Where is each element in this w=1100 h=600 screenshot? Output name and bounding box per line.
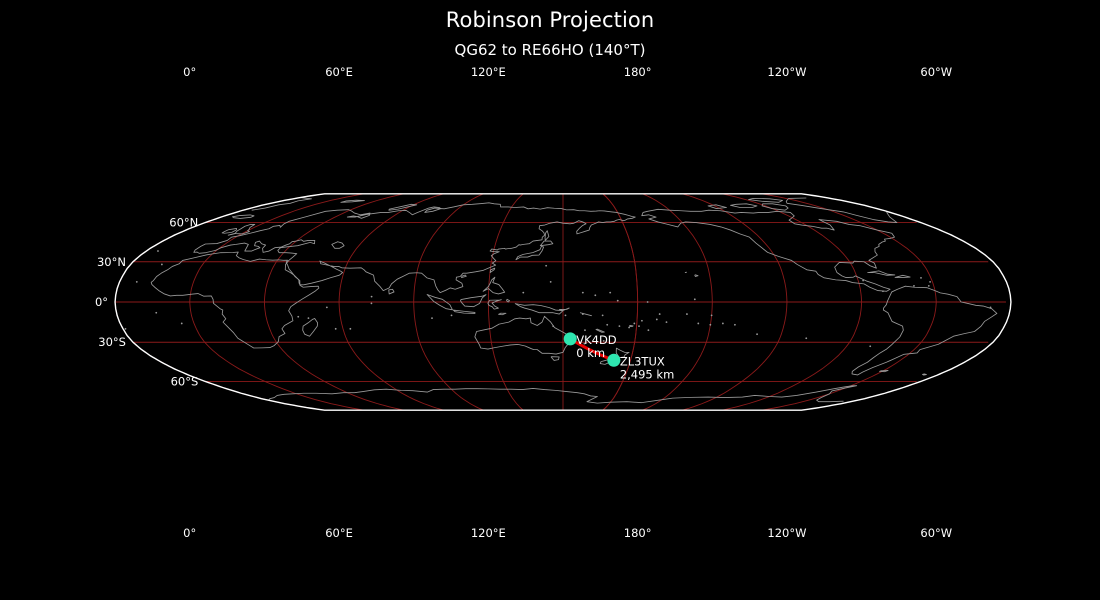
marker-distance-destination: 2,495 km: [620, 367, 674, 381]
island-dot: [697, 323, 699, 325]
island-dot: [641, 320, 643, 322]
island-dot: [666, 321, 668, 323]
coastline-segment: [222, 228, 236, 233]
island-dot: [862, 280, 864, 282]
island-dot: [136, 281, 138, 283]
island-dot: [882, 290, 884, 292]
coastline-segment: [895, 275, 910, 277]
bottom-tick-5: 60°W: [920, 526, 952, 540]
marker-destination[interactable]: [607, 354, 620, 367]
left-tick-2: 0°: [95, 295, 108, 309]
left-tick-4: 60°S: [171, 374, 199, 388]
island-dot: [647, 329, 649, 331]
bottom-tick-2: 120°E: [471, 526, 506, 540]
island-dot: [552, 325, 554, 327]
coastline-segment: [630, 325, 633, 326]
island-dot: [371, 296, 373, 298]
coastline-segment: [559, 308, 569, 310]
coastline-segment: [868, 271, 895, 275]
coastline-segment: [341, 200, 365, 202]
island-dot: [659, 313, 661, 315]
coastline-segment: [852, 286, 997, 375]
island-dot: [990, 306, 992, 308]
coastline-segment: [762, 204, 788, 210]
coastline-segment: [515, 304, 563, 314]
page-subtitle: QG62 to RE66HO (140°T): [0, 41, 1100, 59]
marker-distance-origin: 0 km: [576, 346, 605, 360]
marker-callsign-origin: VK4DD: [576, 333, 617, 347]
coastline-segment: [695, 275, 698, 277]
island-dot: [161, 264, 163, 266]
island-dot: [602, 315, 604, 317]
graticule-layer: [115, 194, 1006, 410]
page-title: Robinson Projection: [0, 8, 1100, 32]
world-map[interactable]: VK4DD0 kmZL3TUX2,495 km 0°0°60°E60°E120°…: [0, 0, 1100, 600]
island-dot: [125, 328, 127, 330]
coastline-segment: [332, 242, 344, 249]
island-dot: [929, 281, 931, 283]
island-dot: [686, 313, 688, 315]
coastline-segment: [551, 357, 559, 361]
marker-origin[interactable]: [564, 332, 577, 345]
island-dot: [349, 328, 351, 330]
island-dot: [594, 294, 596, 296]
island-dot: [522, 292, 524, 294]
coastline-segment: [151, 252, 319, 348]
island-dot: [582, 292, 584, 294]
coastline-segment: [499, 313, 506, 315]
island-dot: [756, 333, 758, 335]
map-figure: Robinson Projection QG62 to RE66HO (140°…: [0, 0, 1100, 600]
top-tick-4: 120°W: [767, 65, 806, 79]
coastline-segment: [483, 277, 505, 294]
island-dot: [920, 277, 922, 279]
island-dot: [709, 324, 711, 326]
island-dot: [722, 323, 724, 325]
coastline-segment: [453, 310, 475, 313]
island-dot: [308, 317, 310, 319]
island-dot: [609, 292, 611, 294]
island-dot: [606, 324, 608, 326]
island-dot: [656, 319, 658, 321]
top-tick-5: 60°W: [920, 65, 952, 79]
coastline-segment: [389, 289, 394, 294]
coastline-segment: [228, 224, 255, 235]
island-dot: [711, 315, 713, 317]
island-dot: [734, 324, 736, 326]
island-dot: [545, 265, 547, 267]
bottom-tick-4: 120°W: [767, 526, 806, 540]
coastline-segment: [731, 204, 757, 208]
coastline-segment: [488, 300, 501, 309]
coastline-segment: [642, 209, 895, 291]
bottom-tick-1: 60°E: [325, 526, 353, 540]
island-dot: [451, 315, 453, 317]
island-dot: [805, 337, 807, 339]
coastline-segment: [611, 386, 857, 403]
coastline-segment: [545, 231, 549, 241]
island-dot: [584, 329, 586, 331]
island-dot: [619, 325, 621, 327]
top-tick-0: 0°: [183, 65, 196, 79]
island-dot: [913, 285, 915, 287]
marker-layer[interactable]: VK4DD0 kmZL3TUX2,495 km: [564, 332, 675, 381]
top-tick-3: 180°: [624, 65, 652, 79]
island-dot: [550, 281, 552, 283]
coastline-segment: [232, 215, 254, 219]
left-tick-0: 60°N: [169, 216, 198, 230]
island-dot: [617, 300, 619, 302]
coastline-segment: [596, 329, 604, 332]
island-dot: [633, 323, 635, 325]
island-dot: [157, 250, 159, 252]
bottom-tick-3: 180°: [624, 526, 652, 540]
coastline-segment: [516, 246, 544, 259]
left-tick-3: 30°S: [98, 335, 126, 349]
coastline-segment: [462, 275, 467, 278]
coastline-segment: [303, 319, 318, 337]
island-dot: [638, 325, 640, 327]
coastline-layer: [125, 198, 997, 404]
coastline-segment: [786, 198, 897, 223]
coastline-segment: [194, 203, 635, 293]
island-dot: [647, 301, 649, 303]
coastline-segment: [490, 268, 495, 272]
island-dot: [628, 327, 630, 329]
coastline-segment: [880, 370, 889, 371]
coastline-segment: [461, 295, 486, 307]
island-dot: [297, 316, 299, 318]
island-dot: [565, 315, 567, 317]
left-tick-1: 30°N: [97, 255, 126, 269]
island-dot: [335, 328, 337, 330]
island-dot: [694, 298, 696, 300]
top-tick-2: 120°E: [471, 65, 506, 79]
island-dot: [155, 312, 157, 314]
island-dot: [582, 313, 584, 315]
marker-callsign-destination: ZL3TUX: [620, 354, 665, 368]
coastline-segment: [923, 374, 927, 375]
island-dot: [928, 285, 930, 287]
island-dot: [181, 323, 183, 325]
island-dot: [869, 345, 871, 347]
bottom-tick-0: 0°: [183, 526, 196, 540]
island-dot: [326, 306, 328, 308]
top-tick-1: 60°E: [325, 65, 353, 79]
island-dot: [431, 317, 433, 319]
coastline-segment: [540, 241, 553, 246]
axis-tick-labels: 0°0°60°E60°E120°E120°E180°180°120°W120°W…: [95, 65, 952, 540]
island-dot: [371, 302, 373, 304]
